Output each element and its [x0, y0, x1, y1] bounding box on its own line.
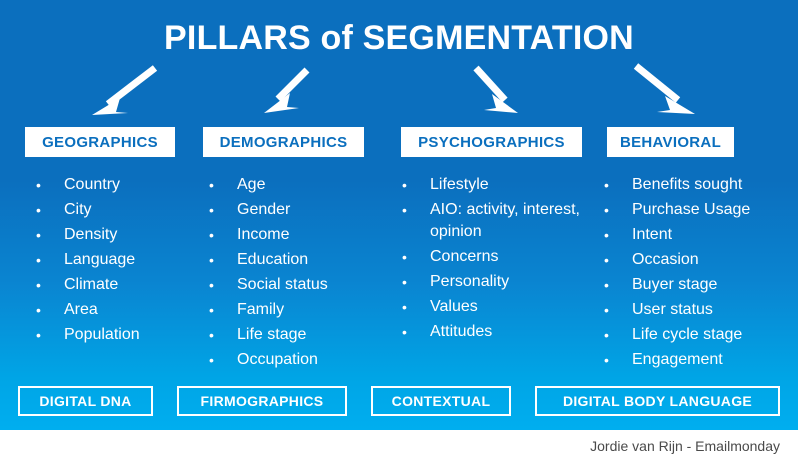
list-item: •Education	[205, 249, 385, 271]
list-item: •Language	[32, 249, 197, 271]
list-item: •User status	[600, 299, 795, 321]
list-item-label: Density	[64, 224, 117, 246]
list-item-label: Occasion	[632, 249, 699, 271]
bullet-dot-icon: •	[398, 174, 430, 196]
bottom-box-firmographics[interactable]: FIRMOGRAPHICS	[177, 386, 347, 416]
pillar-header-label: BEHAVIORAL	[620, 134, 721, 151]
list-item-label: Occupation	[237, 349, 318, 371]
list-item: •Personality	[398, 271, 598, 293]
list-item: •Density	[32, 224, 197, 246]
list-item: •Buyer stage	[600, 274, 795, 296]
bullet-dot-icon: •	[600, 349, 632, 371]
list-item: •Life stage	[205, 324, 385, 346]
list-item-label: Concerns	[430, 246, 498, 268]
bottom-box-digital-dna[interactable]: DIGITAL DNA	[18, 386, 153, 416]
list-item-label: Education	[237, 249, 308, 271]
list-item-label: Buyer stage	[632, 274, 717, 296]
list-item-label: Values	[430, 296, 478, 318]
page-title: PILLARS of SEGMENTATION	[0, 18, 798, 58]
bullet-dot-icon: •	[205, 199, 237, 221]
bullet-dot-icon: •	[32, 174, 64, 196]
bullet-dot-icon: •	[600, 299, 632, 321]
bullet-dot-icon: •	[205, 349, 237, 371]
bottom-box-digital-body-language[interactable]: DIGITAL BODY LANGUAGE	[535, 386, 780, 416]
list-item: •Occupation	[205, 349, 385, 371]
bullet-dot-icon: •	[32, 249, 64, 271]
pillar-list-behavioral: •Benefits sought•Purchase Usage•Intent•O…	[600, 174, 795, 374]
bullet-dot-icon: •	[600, 324, 632, 346]
list-item-label: Attitudes	[430, 321, 492, 343]
bullet-dot-icon: •	[205, 274, 237, 296]
list-item-label: Life stage	[237, 324, 306, 346]
bullet-dot-icon: •	[32, 299, 64, 321]
bottom-box-contextual[interactable]: CONTEXTUAL	[371, 386, 511, 416]
pillar-header-psychographics[interactable]: PSYCHOGRAPHICS	[401, 127, 582, 157]
list-item-label: Country	[64, 174, 120, 196]
bullet-dot-icon: •	[32, 199, 64, 221]
bullet-dot-icon: •	[398, 321, 430, 343]
list-item-label: User status	[632, 299, 713, 321]
list-item: •Income	[205, 224, 385, 246]
bullet-dot-icon: •	[32, 274, 64, 296]
bullet-dot-icon: •	[398, 199, 430, 221]
list-item: •AIO: activity, interest, opinion	[398, 199, 598, 243]
list-item: •Occasion	[600, 249, 795, 271]
list-item: •Country	[32, 174, 197, 196]
pillar-list-demographics: •Age•Gender•Income•Education•Social stat…	[205, 174, 385, 374]
list-item: •Benefits sought	[600, 174, 795, 196]
bullet-dot-icon: •	[205, 249, 237, 271]
list-item-label: Gender	[237, 199, 290, 221]
list-item-label: Social status	[237, 274, 328, 296]
list-item-label: Climate	[64, 274, 118, 296]
list-item-label: Engagement	[632, 349, 723, 371]
list-item: •City	[32, 199, 197, 221]
list-item-label: Income	[237, 224, 289, 246]
list-item-label: Intent	[632, 224, 672, 246]
list-item-label: Personality	[430, 271, 509, 293]
bullet-dot-icon: •	[205, 174, 237, 196]
list-item-label: Lifestyle	[430, 174, 489, 196]
list-item: •Intent	[600, 224, 795, 246]
list-item: •Life cycle stage	[600, 324, 795, 346]
bottom-box-label: CONTEXTUAL	[392, 393, 491, 409]
list-item-label: Language	[64, 249, 135, 271]
pillar-header-geographics[interactable]: GEOGRAPHICS	[25, 127, 175, 157]
bullet-dot-icon: •	[205, 324, 237, 346]
list-item: •Age	[205, 174, 385, 196]
list-item: •Concerns	[398, 246, 598, 268]
list-item: •Values	[398, 296, 598, 318]
list-item: •Climate	[32, 274, 197, 296]
pillar-header-demographics[interactable]: DEMOGRAPHICS	[203, 127, 364, 157]
list-item-label: Purchase Usage	[632, 199, 750, 221]
bullet-dot-icon: •	[600, 274, 632, 296]
list-item: •Lifestyle	[398, 174, 598, 196]
bottom-box-label: DIGITAL BODY LANGUAGE	[563, 393, 752, 409]
list-item: •Engagement	[600, 349, 795, 371]
infographic-canvas: PILLARS of SEGMENTATION GEOGRAPHICS DEMO…	[0, 0, 798, 468]
list-item-label: Benefits sought	[632, 174, 742, 196]
list-item-label: Age	[237, 174, 265, 196]
bottom-box-label: FIRMOGRAPHICS	[201, 393, 324, 409]
list-item-label: Life cycle stage	[632, 324, 742, 346]
pillar-header-label: GEOGRAPHICS	[42, 134, 158, 151]
bullet-dot-icon: •	[600, 199, 632, 221]
list-item-label: Population	[64, 324, 140, 346]
pillar-list-psychographics: •Lifestyle•AIO: activity, interest, opin…	[398, 174, 598, 346]
list-item: •Area	[32, 299, 197, 321]
list-item-label: Family	[237, 299, 284, 321]
list-item-label: City	[64, 199, 92, 221]
bullet-dot-icon: •	[205, 224, 237, 246]
pillar-list-geographics: •Country•City•Density•Language•Climate•A…	[32, 174, 197, 349]
list-item: •Purchase Usage	[600, 199, 795, 221]
list-item-label: Area	[64, 299, 98, 321]
bullet-dot-icon: •	[32, 324, 64, 346]
list-item: •Attitudes	[398, 321, 598, 343]
attribution-credit: Jordie van Rijn - Emailmonday	[590, 438, 780, 454]
list-item: •Population	[32, 324, 197, 346]
bullet-dot-icon: •	[205, 299, 237, 321]
bullet-dot-icon: •	[600, 224, 632, 246]
list-item: •Family	[205, 299, 385, 321]
bullet-dot-icon: •	[600, 249, 632, 271]
pillar-header-label: PSYCHOGRAPHICS	[418, 134, 565, 151]
list-item: •Gender	[205, 199, 385, 221]
list-item-label: AIO: activity, interest, opinion	[430, 199, 598, 243]
pillar-header-behavioral[interactable]: BEHAVIORAL	[607, 127, 734, 157]
bullet-dot-icon: •	[398, 271, 430, 293]
list-item: •Social status	[205, 274, 385, 296]
bullet-dot-icon: •	[600, 174, 632, 196]
bottom-box-label: DIGITAL DNA	[39, 393, 131, 409]
bullet-dot-icon: •	[398, 296, 430, 318]
bullet-dot-icon: •	[32, 224, 64, 246]
pillar-header-label: DEMOGRAPHICS	[220, 134, 348, 151]
bullet-dot-icon: •	[398, 246, 430, 268]
